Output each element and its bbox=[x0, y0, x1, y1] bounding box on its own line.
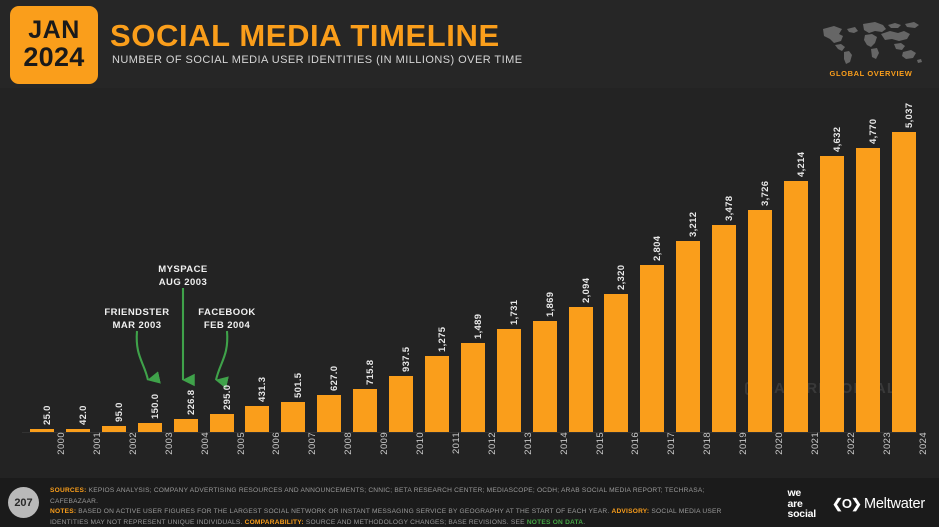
bar-2014[interactable] bbox=[533, 321, 557, 432]
bar-column-2011[interactable]: 1,2752011 bbox=[425, 356, 449, 432]
page-title: SOCIAL MEDIA TIMELINE bbox=[110, 18, 500, 54]
bar-chart-plot: FRIENDSTER MAR 2003 MYSPACE AUG 2003 FAC… bbox=[0, 88, 939, 478]
bar-value-2017: 2,804 bbox=[652, 236, 663, 261]
brand-logos: we are social ❮O❯ Meltwater bbox=[787, 488, 925, 520]
we-are-social-line3: social bbox=[787, 509, 816, 520]
bar-column-2010[interactable]: 937.52010 bbox=[389, 376, 413, 432]
annotation-myspace-line1: MYSPACE bbox=[139, 264, 227, 277]
x-axis-label-2009: 2009 bbox=[379, 432, 390, 455]
bar-column-2002[interactable]: 95.02002 bbox=[102, 426, 126, 432]
bar-2012[interactable] bbox=[461, 343, 485, 432]
bar-2006[interactable] bbox=[245, 406, 269, 432]
bar-2005[interactable] bbox=[210, 414, 234, 432]
bar-2021[interactable] bbox=[784, 181, 808, 432]
x-axis-label-2017: 2017 bbox=[666, 432, 677, 455]
x-axis-label-2019: 2019 bbox=[738, 432, 749, 455]
page-subtitle: NUMBER OF SOCIAL MEDIA USER IDENTITIES (… bbox=[112, 54, 523, 66]
date-badge-month: JAN bbox=[28, 18, 80, 44]
bar-2020[interactable] bbox=[748, 210, 772, 432]
bar-column-2017[interactable]: 2,8042017 bbox=[640, 265, 664, 432]
bar-value-2000: 25.0 bbox=[42, 405, 53, 425]
notes-period: . bbox=[583, 519, 585, 526]
x-axis-label-2006: 2006 bbox=[271, 432, 282, 455]
x-axis-label-2012: 2012 bbox=[487, 432, 498, 455]
meltwater-mark-icon: ❮O❯ bbox=[832, 496, 861, 512]
bar-value-2020: 3,726 bbox=[760, 181, 771, 206]
bar-value-2022: 4,632 bbox=[832, 127, 843, 152]
bar-column-2016[interactable]: 2,3202016 bbox=[604, 294, 628, 432]
x-axis-label-2014: 2014 bbox=[559, 432, 570, 455]
annotation-facebook-line2: FEB 2004 bbox=[183, 320, 271, 333]
friendster-arrow bbox=[137, 331, 148, 380]
date-badge: JAN 2024 bbox=[10, 6, 98, 84]
bar-value-2005: 295.0 bbox=[222, 385, 233, 410]
page-number-badge: 207 bbox=[8, 487, 39, 518]
x-axis-label-2000: 2000 bbox=[56, 432, 67, 455]
bar-2009[interactable] bbox=[353, 389, 377, 432]
bar-2002[interactable] bbox=[102, 426, 126, 432]
x-axis-label-2015: 2015 bbox=[595, 432, 606, 455]
bar-column-2006[interactable]: 431.32006 bbox=[245, 406, 269, 432]
annotation-myspace-line2: AUG 2003 bbox=[139, 277, 227, 290]
notes-text: BASED ON ACTIVE USER FIGURES FOR THE LAR… bbox=[78, 508, 609, 515]
x-axis-label-2016: 2016 bbox=[630, 432, 641, 455]
bar-value-2007: 501.5 bbox=[293, 373, 304, 398]
bar-column-2005[interactable]: 295.02005 bbox=[210, 414, 234, 432]
footnotes: SOURCES: KEPIOS ANALYSIS; COMPANY ADVERT… bbox=[50, 486, 722, 527]
x-axis-label-2001: 2001 bbox=[92, 432, 103, 455]
global-overview-label: GLOBAL OVERVIEW bbox=[830, 69, 913, 78]
meltwater-wordmark: Meltwater bbox=[864, 496, 925, 512]
bar-value-2023: 4,770 bbox=[868, 119, 879, 144]
annotation-friendster-line1: FRIENDSTER bbox=[93, 307, 181, 320]
bar-2008[interactable] bbox=[317, 395, 341, 432]
bar-column-2022[interactable]: 4,6322022 bbox=[820, 156, 844, 432]
bar-2024[interactable] bbox=[892, 132, 916, 432]
bar-2007[interactable] bbox=[281, 402, 305, 432]
annotation-facebook-line1: FACEBOOK bbox=[183, 307, 271, 320]
bar-value-2021: 4,214 bbox=[796, 152, 807, 177]
bar-2003[interactable] bbox=[138, 423, 162, 432]
bar-value-2011: 1,275 bbox=[437, 327, 448, 352]
bar-value-2012: 1,489 bbox=[473, 314, 484, 339]
x-axis-label-2004: 2004 bbox=[200, 432, 211, 455]
bar-value-2014: 1,869 bbox=[545, 291, 556, 316]
bar-2001[interactable] bbox=[66, 429, 90, 432]
x-axis-label-2002: 2002 bbox=[128, 432, 139, 455]
notes-on-data-link[interactable]: NOTES ON DATA bbox=[527, 519, 583, 526]
bar-2022[interactable] bbox=[820, 156, 844, 432]
facebook-arrow bbox=[216, 331, 227, 380]
bar-2011[interactable] bbox=[425, 356, 449, 432]
annotation-friendster: FRIENDSTER MAR 2003 bbox=[93, 307, 181, 333]
x-axis-label-2023: 2023 bbox=[882, 432, 893, 455]
x-axis-label-2005: 2005 bbox=[236, 432, 247, 455]
bar-2013[interactable] bbox=[497, 329, 521, 432]
bar-column-2009[interactable]: 715.82009 bbox=[353, 389, 377, 432]
bar-value-2019: 3,478 bbox=[724, 196, 735, 221]
slide-header: JAN 2024 SOCIAL MEDIA TIMELINE NUMBER OF… bbox=[0, 0, 939, 88]
bar-value-2006: 431.3 bbox=[257, 377, 268, 402]
notes-label: NOTES: bbox=[50, 508, 76, 515]
bar-value-2003: 150.0 bbox=[150, 394, 161, 419]
x-axis-label-2011: 2011 bbox=[451, 432, 462, 454]
x-axis-label-2007: 2007 bbox=[307, 432, 318, 455]
x-axis-label-2008: 2008 bbox=[343, 432, 354, 455]
x-axis-label-2024: 2024 bbox=[918, 432, 929, 455]
bar-column-2023[interactable]: 4,7702023 bbox=[856, 148, 880, 432]
annotation-myspace: MYSPACE AUG 2003 bbox=[139, 264, 227, 290]
chart-area: DATAREPORTAL FRIENDSTER MAR 2003 bbox=[0, 88, 939, 478]
bar-value-2015: 2,094 bbox=[581, 278, 592, 303]
comparability-label: COMPARABILITY: bbox=[245, 519, 304, 526]
bar-value-2004: 226.8 bbox=[186, 389, 197, 414]
bar-value-2002: 95.0 bbox=[114, 403, 125, 423]
bar-column-2007[interactable]: 501.52007 bbox=[281, 402, 305, 432]
bar-column-2019[interactable]: 3,4782019 bbox=[712, 225, 736, 432]
annotation-friendster-line2: MAR 2003 bbox=[93, 320, 181, 333]
bar-column-2012[interactable]: 1,4892012 bbox=[461, 343, 485, 432]
slide-footer: 207 SOURCES: KEPIOS ANALYSIS; COMPANY AD… bbox=[0, 478, 939, 527]
bar-column-2000[interactable]: 25.02000 bbox=[30, 429, 54, 432]
world-map-icon bbox=[819, 16, 923, 66]
bar-2018[interactable] bbox=[676, 241, 700, 432]
bar-2016[interactable] bbox=[604, 294, 628, 432]
bar-2004[interactable] bbox=[174, 419, 198, 433]
sources-text: KEPIOS ANALYSIS; COMPANY ADVERTISING RES… bbox=[50, 487, 705, 505]
bar-column-2004[interactable]: 226.82004 bbox=[174, 419, 198, 433]
we-are-social-logo: we are social bbox=[787, 488, 816, 520]
x-axis-label-2020: 2020 bbox=[774, 432, 785, 455]
date-badge-year: 2024 bbox=[23, 44, 84, 72]
slide-root: JAN 2024 SOCIAL MEDIA TIMELINE NUMBER OF… bbox=[0, 0, 939, 527]
sources-label: SOURCES: bbox=[50, 487, 87, 494]
comparability-text: SOURCE AND METHODOLOGY CHANGES; BASE REV… bbox=[306, 519, 525, 526]
bar-column-2001[interactable]: 42.02001 bbox=[66, 429, 90, 432]
bar-value-2008: 627.0 bbox=[329, 365, 340, 390]
bar-column-2003[interactable]: 150.02003 bbox=[138, 423, 162, 432]
x-axis-label-2013: 2013 bbox=[523, 432, 534, 455]
bar-value-2009: 715.8 bbox=[365, 360, 376, 385]
bar-value-2001: 42.0 bbox=[78, 405, 89, 425]
bar-column-2018[interactable]: 3,2122018 bbox=[676, 241, 700, 432]
x-axis-label-2018: 2018 bbox=[702, 432, 713, 455]
bar-value-2018: 3,212 bbox=[688, 211, 699, 236]
bar-2017[interactable] bbox=[640, 265, 664, 432]
x-axis-label-2021: 2021 bbox=[810, 432, 821, 455]
bar-value-2024: 5,037 bbox=[904, 103, 915, 128]
bar-2015[interactable] bbox=[569, 307, 593, 432]
meltwater-logo: ❮O❯ Meltwater bbox=[832, 496, 925, 512]
x-axis-label-2003: 2003 bbox=[164, 432, 175, 455]
bar-column-2013[interactable]: 1,7312013 bbox=[497, 329, 521, 432]
annotation-facebook: FACEBOOK FEB 2004 bbox=[183, 307, 271, 333]
bar-value-2013: 1,731 bbox=[509, 300, 520, 325]
bar-value-2016: 2,320 bbox=[616, 265, 627, 290]
bar-column-2021[interactable]: 4,2142021 bbox=[784, 181, 808, 432]
bar-2000[interactable] bbox=[30, 429, 54, 432]
bar-column-2015[interactable]: 2,0942015 bbox=[569, 307, 593, 432]
bar-column-2014[interactable]: 1,8692014 bbox=[533, 321, 557, 432]
x-axis-label-2022: 2022 bbox=[846, 432, 857, 455]
bar-2019[interactable] bbox=[712, 225, 736, 432]
bar-column-2020[interactable]: 3,7262020 bbox=[748, 210, 772, 432]
global-overview-badge: GLOBAL OVERVIEW bbox=[817, 8, 925, 78]
bar-column-2008[interactable]: 627.02008 bbox=[317, 395, 341, 432]
x-axis-label-2010: 2010 bbox=[415, 432, 426, 455]
bar-column-2024[interactable]: 5,0372024 bbox=[892, 132, 916, 432]
bar-2010[interactable] bbox=[389, 376, 413, 432]
bar-value-2010: 937.5 bbox=[401, 347, 412, 372]
advisory-label: ADVISORY: bbox=[611, 508, 649, 515]
bar-2023[interactable] bbox=[856, 148, 880, 432]
